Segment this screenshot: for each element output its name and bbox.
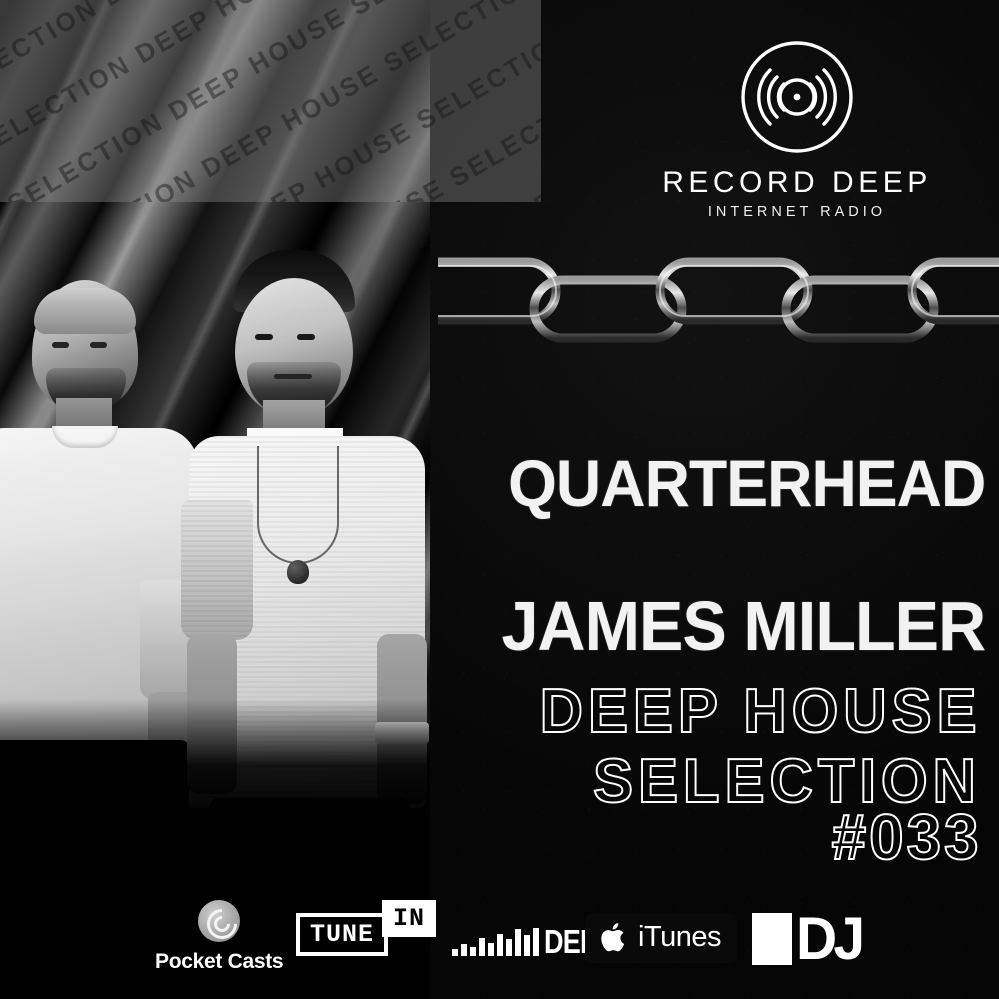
tunein-label-secondary: IN [382, 900, 436, 937]
dj-right-necklace [257, 446, 339, 564]
brand-logo: RECORD DEEP INTERNET RADIO [632, 38, 962, 213]
apple-icon [601, 921, 629, 954]
brand-subtitle: INTERNET RADIO [632, 204, 962, 220]
platform-itunes[interactable]: iTunes [585, 914, 737, 963]
watermark-overlay: DEEP HOUSE SELECTION DEEP HOUSE SELECTIO… [0, 0, 541, 202]
watermark-tile: DEEP HOUSE SELECTION DEEP HOUSE SELECTIO… [0, 0, 541, 202]
chain-icon [438, 246, 999, 358]
brand-name: RECORD DEEP [632, 166, 962, 200]
platform-pocket-casts[interactable]: Pocket Casts [155, 900, 283, 974]
dj-right-sleeve [181, 500, 253, 640]
pocket-casts-label: Pocket Casts [155, 950, 283, 974]
dj-right-pendant [287, 560, 309, 584]
deezer-equalizer-icon [452, 928, 539, 956]
platform-logo-strip: Pocket Casts TUNE IN DEEZER iTunes DJ [0, 895, 999, 999]
dj-block-icon [752, 913, 792, 965]
dj-left-eye-left [52, 342, 69, 348]
dj-label: DJ [796, 913, 861, 965]
tunein-label-primary: TUNE [296, 913, 388, 956]
dj-right-mouth [274, 374, 312, 379]
platform-dj[interactable]: DJ [752, 913, 865, 965]
dj-left-scalp [34, 288, 136, 334]
dj-left-eye-right [90, 342, 107, 348]
dj-right-eye-right [297, 334, 315, 340]
chain-decoration [438, 246, 999, 358]
itunes-label: iTunes [638, 921, 721, 954]
vinyl-record-waves-icon [738, 38, 856, 156]
pocket-casts-icon [198, 900, 240, 942]
poster-canvas: DEEP HOUSE SELECTION DEEP HOUSE SELECTIO… [0, 0, 999, 999]
platform-tunein[interactable]: TUNE IN [296, 913, 442, 956]
dj-right-eye-left [255, 334, 273, 340]
